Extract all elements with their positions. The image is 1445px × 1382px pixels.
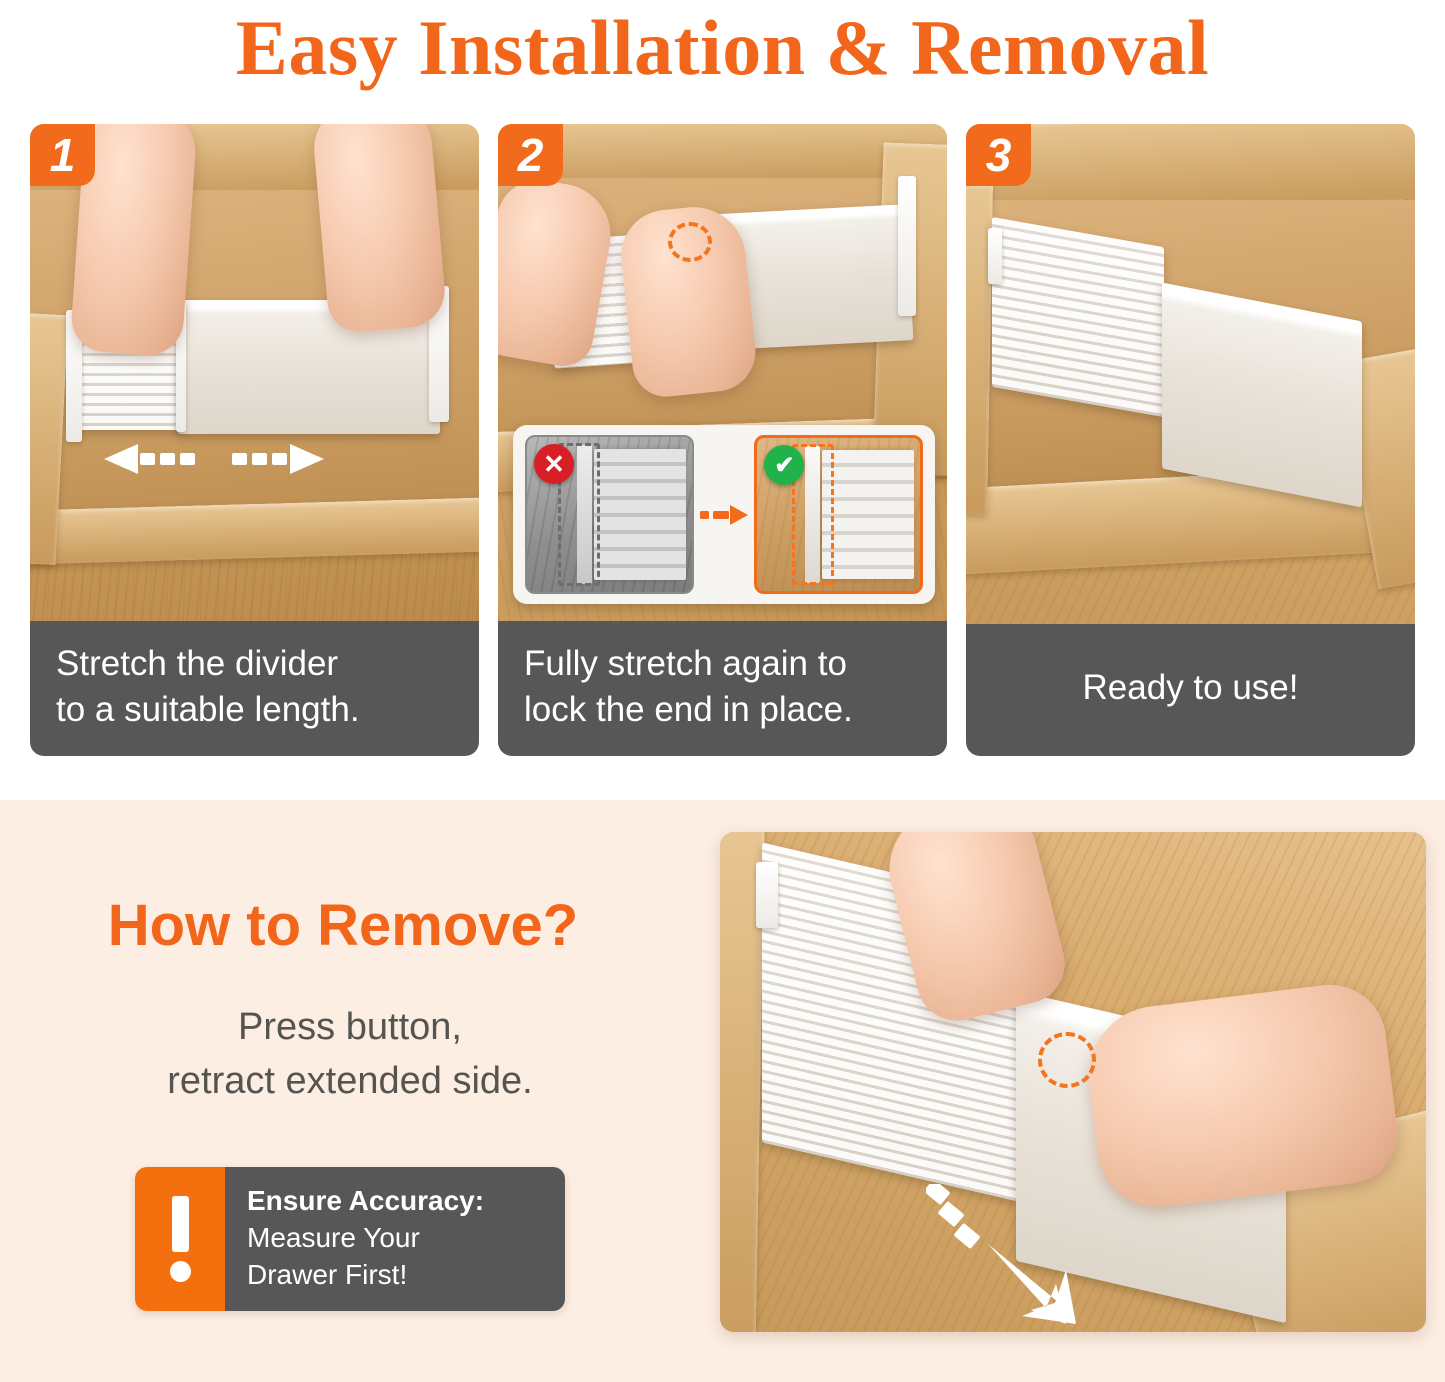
- remove-photo: [720, 832, 1426, 1332]
- exclamation-stem: [172, 1196, 189, 1252]
- remove-photo-column: [700, 800, 1445, 1382]
- divider-right-cap: [898, 176, 916, 316]
- arrow-right-svg: [700, 504, 748, 526]
- page-title: Easy Installation & Removal: [236, 9, 1209, 87]
- remove-section: How to Remove? Press button, retract ext…: [0, 800, 1445, 1382]
- step-card-1: 1 Stretch the divider to a suitable leng…: [30, 124, 479, 756]
- exclamation-dot: [170, 1261, 191, 1282]
- step-1-photo: 1: [30, 124, 479, 621]
- notice-detail: Measure Your Drawer First!: [247, 1219, 547, 1293]
- right-hand: [1081, 978, 1403, 1213]
- divider-left-cap: [988, 228, 1002, 284]
- step-caption-1: Stretch the divider to a suitable length…: [30, 621, 479, 756]
- step-badge-1: 1: [30, 124, 95, 186]
- arrow-right-icon: [700, 495, 749, 535]
- page-header: Easy Installation & Removal: [0, 0, 1445, 96]
- remove-subtitle: Press button, retract extended side.: [167, 1001, 532, 1109]
- accuracy-notice: Ensure Accuracy: Measure Your Drawer Fir…: [135, 1167, 565, 1311]
- dashed-circle-highlight-icon: [1038, 1032, 1096, 1088]
- step-3-photo: 3: [966, 124, 1415, 624]
- step-card-2: ✕ ✔ 2: [498, 124, 947, 756]
- step-badge-2: 2: [498, 124, 563, 186]
- divider-illustration: [822, 450, 914, 579]
- remove-text-column: How to Remove? Press button, retract ext…: [0, 800, 700, 1382]
- inset-pane-incorrect: ✕: [525, 435, 694, 594]
- red-cross-icon: ✕: [534, 444, 574, 484]
- divider-left-cap: [756, 862, 778, 928]
- double-arrow-svg: [104, 442, 324, 476]
- notice-text: Ensure Accuracy: Measure Your Drawer Fir…: [225, 1167, 565, 1311]
- divider-main-panel: [1162, 283, 1362, 508]
- step-card-3: 3 Ready to use!: [966, 124, 1415, 756]
- step-caption-3: Ready to use!: [966, 624, 1415, 756]
- comparison-inset: ✕ ✔: [513, 425, 935, 604]
- step-badge-3: 3: [966, 124, 1031, 186]
- exclamation-mark-icon: [135, 1167, 225, 1311]
- divider-ribbed-section: [992, 217, 1164, 417]
- double-arrow-horizontal-icon: [104, 442, 324, 476]
- installation-steps: 1 Stretch the divider to a suitable leng…: [0, 96, 1445, 756]
- dashed-arrow-down-right-icon: [926, 1184, 1086, 1332]
- inset-pane-correct: ✔: [754, 435, 923, 594]
- notice-heading: Ensure Accuracy:: [247, 1182, 547, 1219]
- step-2-photo: ✕ ✔ 2: [498, 124, 947, 621]
- remove-title: How to Remove?: [108, 892, 579, 959]
- divider-illustration: [594, 449, 686, 580]
- step-caption-2: Fully stretch again to lock the end in p…: [498, 621, 947, 756]
- right-hand: [310, 124, 448, 335]
- dashed-circle-highlight-icon: [668, 222, 712, 262]
